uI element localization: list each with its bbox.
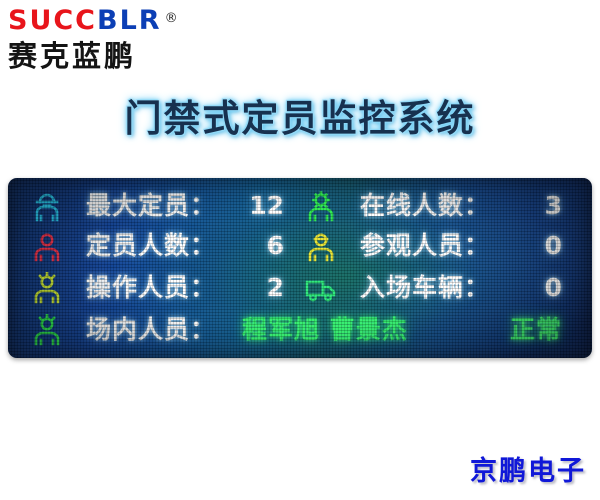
logo-chinese-name: 赛克蓝鹏 [8, 38, 208, 74]
onsite-person-icon [30, 314, 64, 348]
led-value-online-count: 3 [545, 188, 562, 224]
onsite-personnel-names: 程军旭 曹景杰 [242, 312, 408, 348]
operator-person-icon [30, 272, 64, 306]
led-label-max-capacity: 最大定员： [86, 188, 216, 224]
led-label-visitors: 参观人员： [360, 228, 490, 264]
led-value-vehicles: 0 [545, 270, 562, 306]
led-label-online-count: 在线人数： [360, 188, 490, 224]
logo-wordmark-blr: BLR [97, 5, 162, 36]
logo-wordmark-succ: SUCC [8, 5, 97, 36]
page-title: 门禁式定员监控系统 [0, 88, 600, 142]
led-label-vehicles: 入场车辆： [360, 270, 490, 306]
person-red-icon [30, 230, 64, 264]
led-row-operators: 操作人员： 2 [30, 270, 288, 310]
visitor-person-icon [304, 230, 338, 264]
worker-helmet-person-icon [30, 190, 64, 224]
led-label-operators: 操作人员： [86, 270, 216, 306]
led-label-registered-count: 定员人数： [86, 228, 216, 264]
logo-wordmark: SUCCBLR® [8, 6, 208, 36]
led-row-online-count: 在线人数： 3 [304, 188, 566, 228]
footer-brand-name: 京鹏电子 [470, 449, 586, 488]
status-badge: 正常 [510, 312, 562, 348]
led-row-registered-count: 定员人数： 6 [30, 228, 288, 268]
led-row-visitors: 参观人员： 0 [304, 228, 566, 268]
online-person-icon [304, 190, 338, 224]
led-row-vehicles: 入场车辆： 0 [304, 270, 566, 310]
led-row-onsite-personnel: 场内人员： 程军旭 曹景杰 正常 [30, 312, 566, 352]
led-label-onsite-personnel: 场内人员： [86, 312, 216, 348]
led-value-visitors: 0 [545, 228, 562, 264]
truck-icon [304, 272, 338, 306]
led-row-max-capacity: 最大定员： 12 [30, 188, 288, 228]
led-display-panel: 最大定员： 12 定员人数： 6 [8, 178, 592, 358]
registered-trademark-icon: ® [165, 4, 180, 34]
led-value-registered-count: 6 [267, 228, 284, 264]
company-logo: SUCCBLR® 赛克蓝鹏 [8, 6, 208, 76]
led-value-max-capacity: 12 [249, 188, 284, 224]
led-value-operators: 2 [267, 270, 284, 306]
